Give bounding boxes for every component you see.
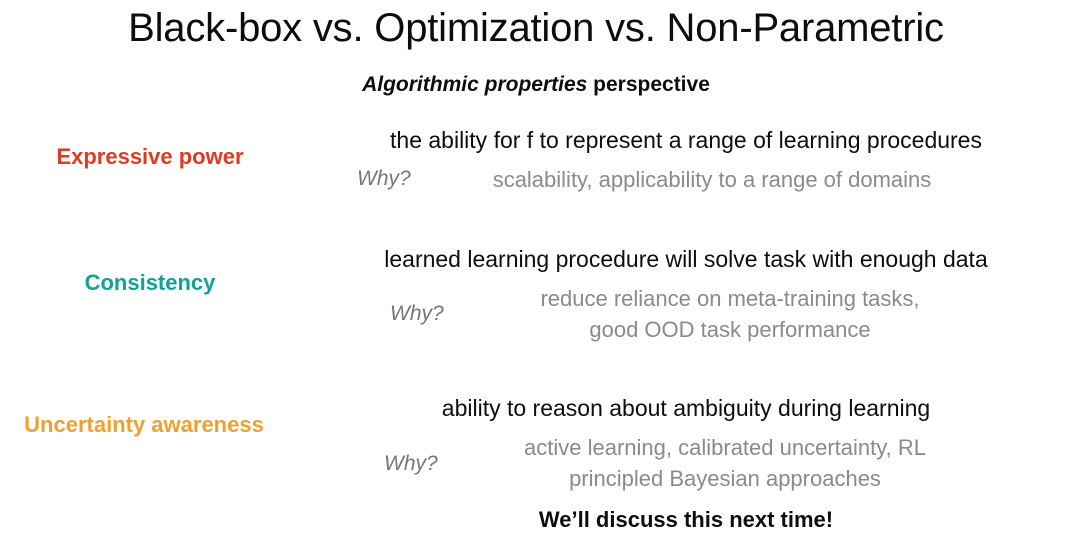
why-block-uncertainty-awareness: Why? active learning, calibrated uncerta… (300, 394, 1072, 494)
why-label-expressive-power: Why? (357, 164, 411, 194)
closing-note: We’ll discuss this next time! (300, 494, 1072, 536)
why-reason-line: good OOD task performance (388, 314, 1072, 345)
why-reasons-uncertainty-awareness: active learning, calibrated uncertainty,… (300, 394, 1072, 494)
why-reason-line: reduce reliance on meta-training tasks, (388, 283, 1072, 314)
row-body-uncertainty-awareness: ability to reason about ambiguity during… (300, 392, 1072, 536)
why-reasons-consistency: reduce reliance on meta-training tasks, … (300, 245, 1072, 345)
row-label-consistency: Consistency (0, 268, 300, 298)
why-block-consistency: Why? reduce reliance on meta-training ta… (300, 245, 1072, 345)
why-reason-line: active learning, calibrated uncertainty,… (378, 432, 1072, 463)
why-reason-line: scalability, applicability to a range of… (352, 164, 1072, 195)
why-reasons-expressive-power: scalability, applicability to a range of… (300, 126, 1072, 195)
why-label-uncertainty-awareness: Why? (384, 449, 438, 479)
why-reason-line: principled Bayesian approaches (378, 463, 1072, 494)
row-body-consistency: learned learning procedure will solve ta… (300, 243, 1072, 345)
row-body-expressive-power: the ability for f to represent a range o… (300, 124, 1072, 195)
slide-subtitle-emphasis: Algorithmic properties (362, 73, 587, 96)
why-block-expressive-power: Why? scalability, applicability to a ran… (300, 126, 1072, 195)
row-label-expressive-power: Expressive power (0, 142, 300, 172)
row-label-uncertainty-awareness: Uncertainty awareness (0, 410, 294, 440)
why-label-consistency: Why? (390, 299, 444, 329)
slide-canvas: Black-box vs. Optimization vs. Non-Param… (0, 0, 1072, 542)
slide-title: Black-box vs. Optimization vs. Non-Param… (0, 2, 1072, 54)
slide-subtitle: Algorithmic properties perspective (0, 70, 1072, 100)
slide-subtitle-rest: perspective (587, 73, 710, 96)
